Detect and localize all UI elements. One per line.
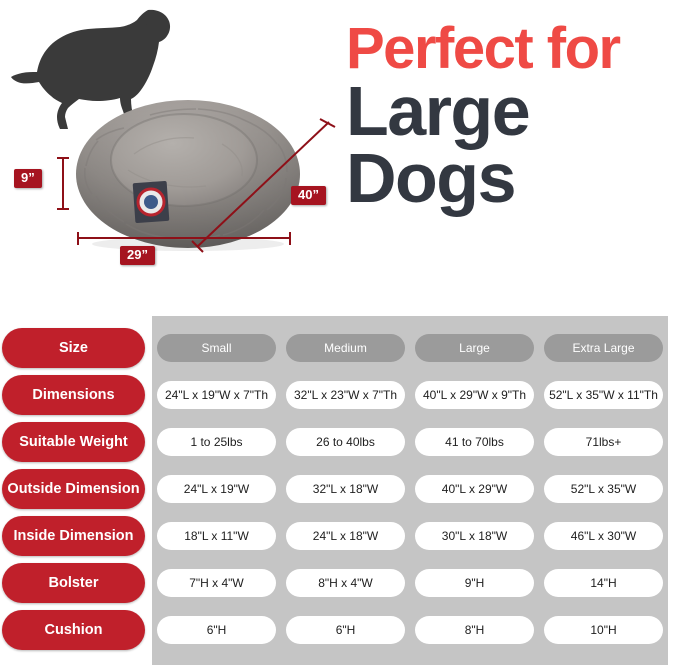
cell-cushion-extra-large: 10"H (544, 616, 663, 644)
column-header-medium: Medium (286, 334, 405, 362)
cell-inside-dimension-large: 30"L x 18"W (415, 522, 534, 550)
row-label-outside-dimension: Outside Dimension (2, 469, 145, 509)
cell-inside-dimension-extra-large: 46"L x 30"W (544, 522, 663, 550)
cell-outside-dimension-small: 24"L x 19"W (157, 475, 276, 503)
cell-outside-dimension-large: 40"L x 29"W (415, 475, 534, 503)
cell-inside-dimension-medium: 24"L x 18"W (286, 522, 405, 550)
cell-cushion-small: 6"H (157, 616, 276, 644)
cell-bolster-large: 9"H (415, 569, 534, 597)
product-size-chart-infographic: 9” 40” 29” Perfect for Large Dogs Size D… (0, 0, 679, 665)
table-row-bolster: 7"H x 4"W 8"H x 4"W 9"H 14"H (152, 569, 668, 597)
row-label-dimensions: Dimensions (2, 375, 145, 415)
column-header-small: Small (157, 334, 276, 362)
table-row-outside-dimension: 24"L x 19"W 32"L x 18"W 40"L x 29"W 52"L… (152, 475, 668, 503)
size-spec-table: Size Dimensions Suitable Weight Outside … (0, 310, 679, 665)
cell-cushion-large: 8"H (415, 616, 534, 644)
table-row-cushion: 6"H 6"H 8"H 10"H (152, 616, 668, 644)
cell-cushion-medium: 6"H (286, 616, 405, 644)
cell-bolster-extra-large: 14"H (544, 569, 663, 597)
cell-suitable-weight-medium: 26 to 40lbs (286, 428, 405, 456)
cell-inside-dimension-small: 18"L x 11"W (157, 522, 276, 550)
headline-line-2: Large (346, 79, 676, 143)
row-label-bolster: Bolster (2, 563, 145, 603)
row-label-column: Size Dimensions Suitable Weight Outside … (0, 310, 150, 665)
headline-line-3: Dogs (346, 146, 676, 210)
cell-dimensions-small: 24"L x 19"W x 7"Th (157, 381, 276, 409)
cell-dimensions-medium: 32"L x 23"W x 7"Th (286, 381, 405, 409)
cell-outside-dimension-extra-large: 52"L x 35"W (544, 475, 663, 503)
row-label-size: Size (2, 328, 145, 368)
cell-dimensions-large: 40"L x 29"W x 9"Th (415, 381, 534, 409)
row-label-suitable-weight: Suitable Weight (2, 422, 145, 462)
cell-outside-dimension-medium: 32"L x 18"W (286, 475, 405, 503)
cell-dimensions-extra-large: 52"L x 35"W x 11"Th (544, 381, 663, 409)
row-label-cushion: Cushion (2, 610, 145, 650)
table-row-dimensions: 24"L x 19"W x 7"Th 32"L x 23"W x 7"Th 40… (152, 381, 668, 409)
column-header-large: Large (415, 334, 534, 362)
table-header-row: Small Medium Large Extra Large (152, 334, 668, 362)
cell-bolster-medium: 8"H x 4"W (286, 569, 405, 597)
cell-suitable-weight-extra-large: 71lbs+ (544, 428, 663, 456)
dimension-badge-height: 9” (14, 169, 42, 188)
dimension-badge-width: 29” (120, 246, 155, 265)
headline-block: Perfect for Large Dogs (346, 22, 676, 210)
table-row-suitable-weight: 1 to 25lbs 26 to 40lbs 41 to 70lbs 71lbs… (152, 428, 668, 456)
column-header-extra-large: Extra Large (544, 334, 663, 362)
dimension-badge-diagonal: 40” (291, 186, 326, 205)
cell-bolster-small: 7"H x 4"W (157, 569, 276, 597)
table-row-inside-dimension: 18"L x 11"W 24"L x 18"W 30"L x 18"W 46"L… (152, 522, 668, 550)
headline-line-1: Perfect for (346, 22, 676, 75)
row-label-inside-dimension: Inside Dimension (2, 516, 145, 556)
cell-suitable-weight-large: 41 to 70lbs (415, 428, 534, 456)
cell-suitable-weight-small: 1 to 25lbs (157, 428, 276, 456)
hero-section: 9” 40” 29” Perfect for Large Dogs (0, 0, 679, 300)
